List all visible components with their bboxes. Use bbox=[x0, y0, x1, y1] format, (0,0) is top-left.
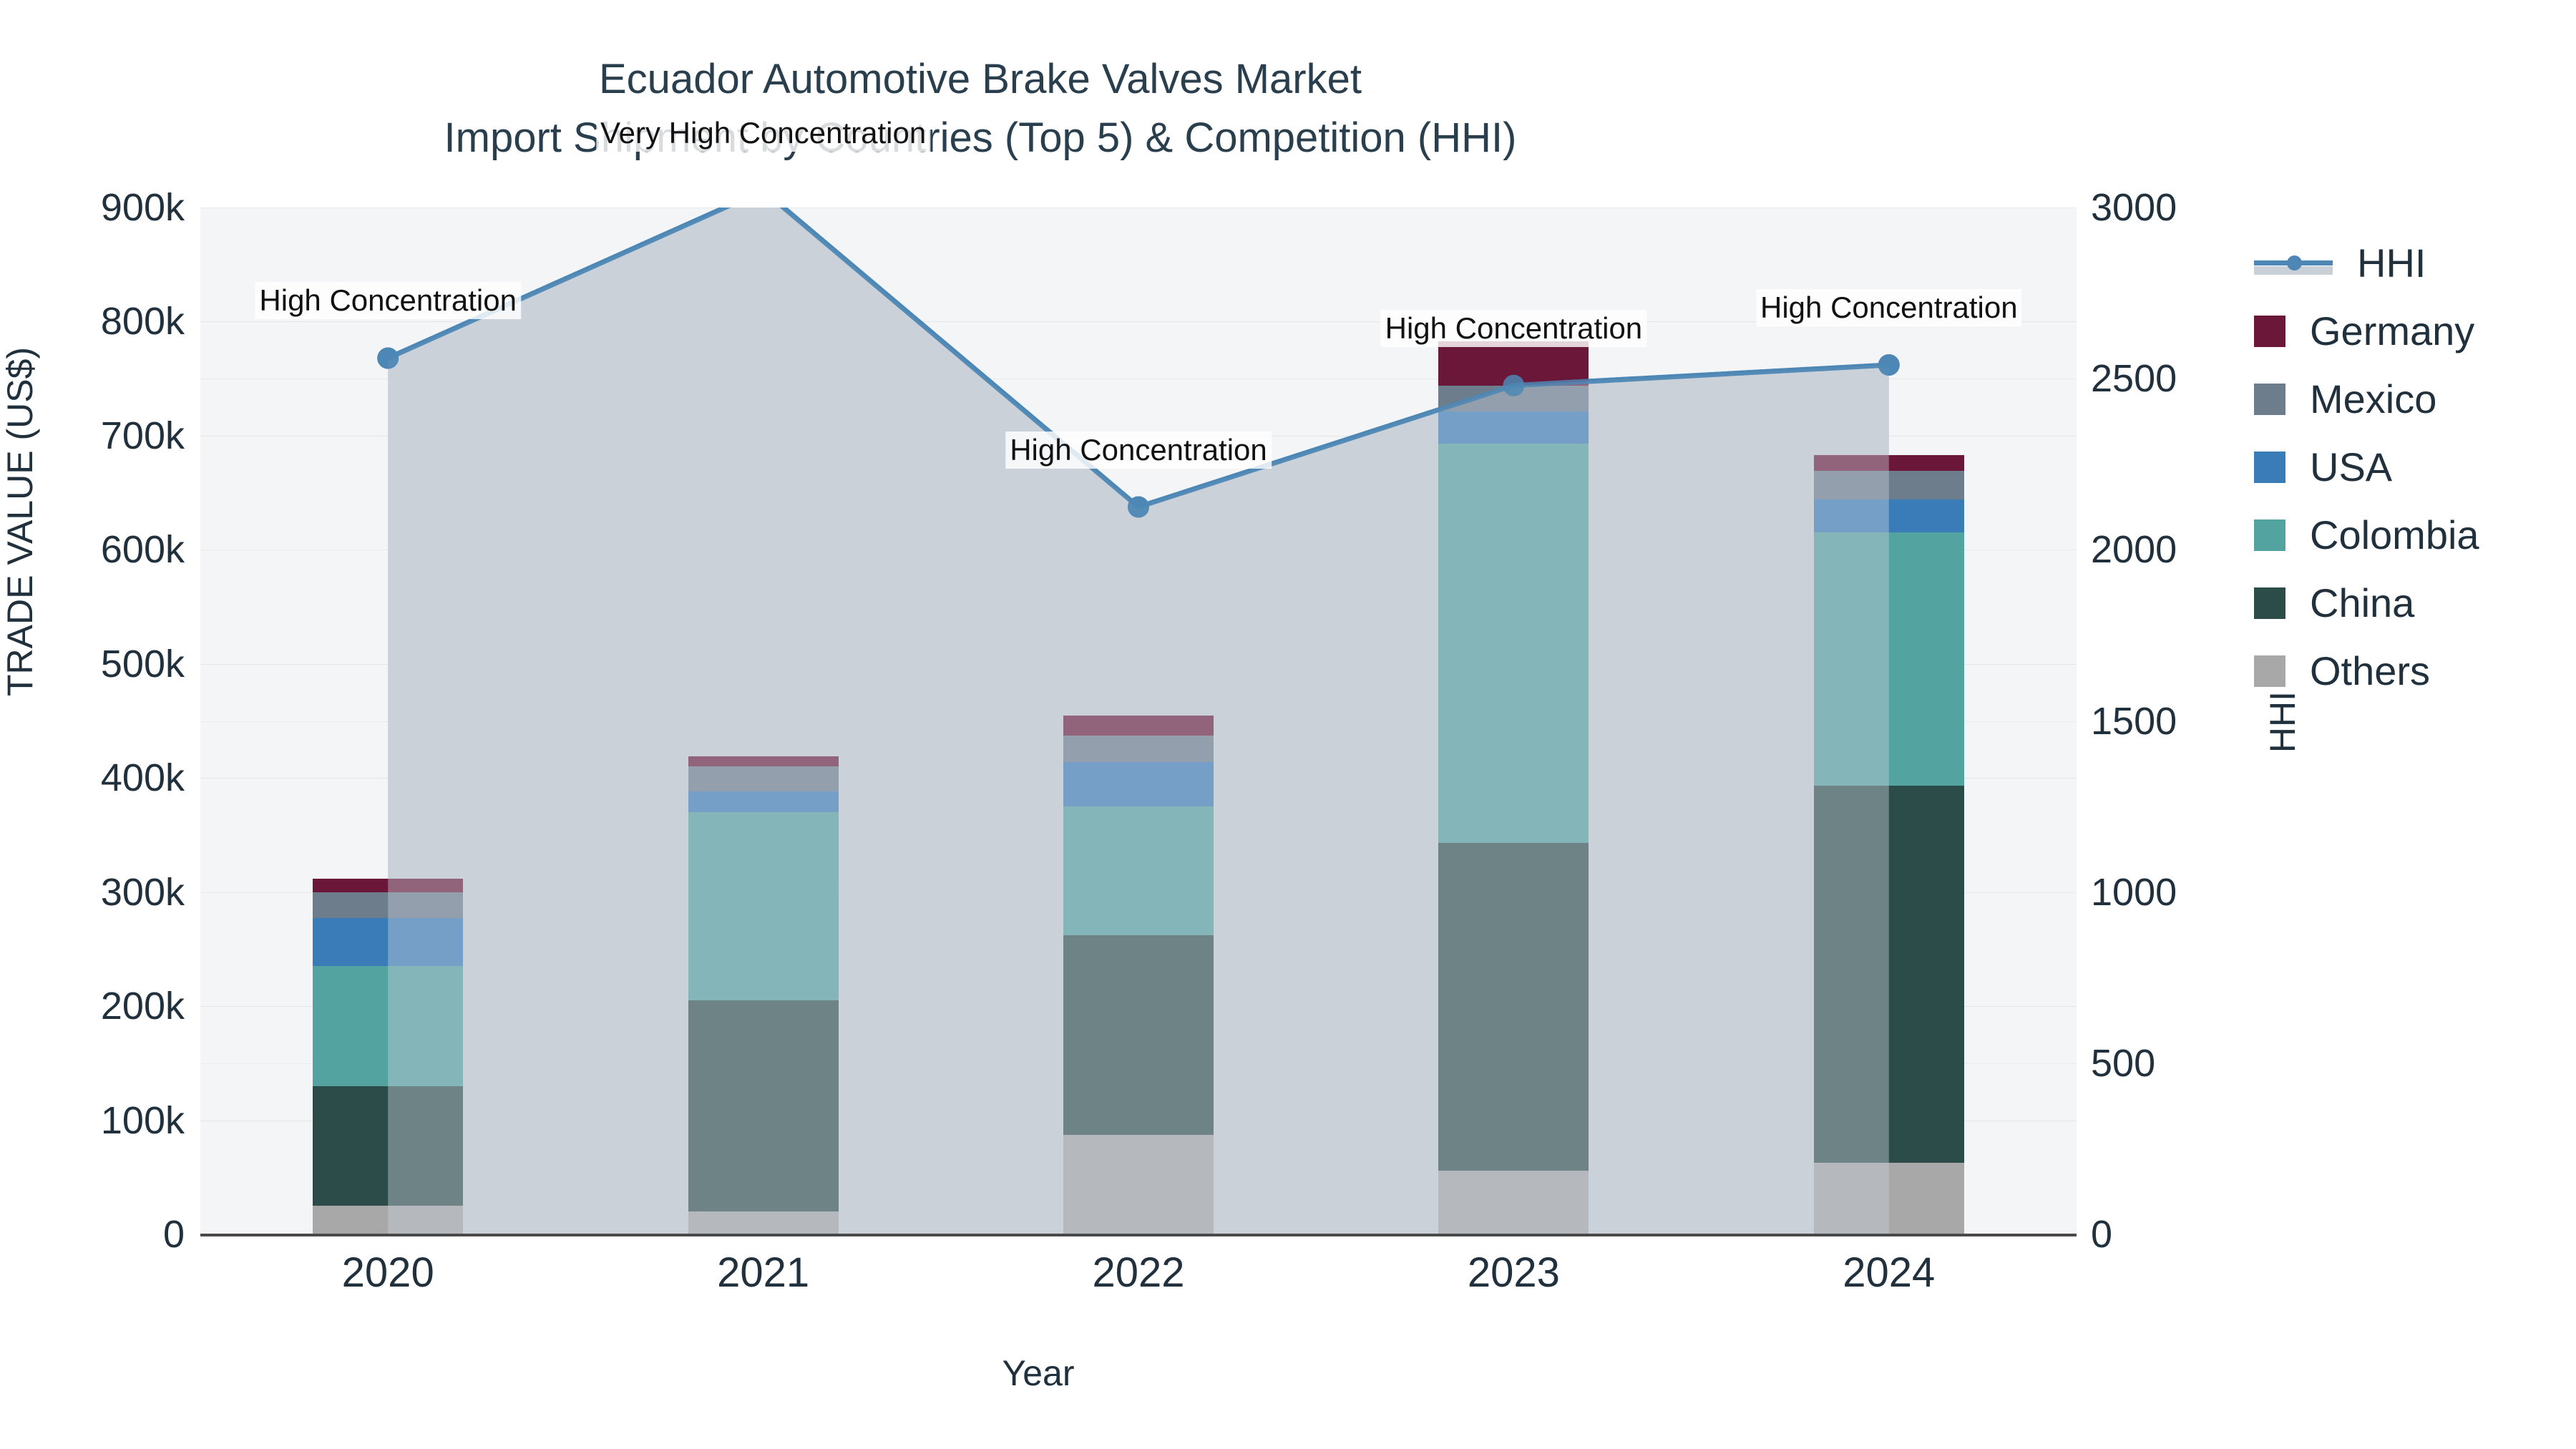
annotation-label: High Concentration bbox=[1381, 310, 1647, 347]
hhi-marker[interactable] bbox=[377, 347, 399, 369]
y-axis-left-tick: 800k bbox=[101, 299, 185, 343]
x-axis-tick-2024: 2024 bbox=[1843, 1249, 1935, 1297]
bar-segment-colombia[interactable] bbox=[1063, 806, 1214, 935]
y-axis-right-tick: 3000 bbox=[2091, 185, 2177, 230]
x-axis-tick-2020: 2020 bbox=[342, 1249, 434, 1297]
bar-segment-usa[interactable] bbox=[313, 918, 463, 966]
bar-segment-germany[interactable] bbox=[1438, 341, 1589, 386]
y-axis-left-tick: 100k bbox=[101, 1098, 185, 1143]
bar-segment-colombia[interactable] bbox=[688, 812, 839, 1000]
y-axis-right-tick: 1000 bbox=[2091, 870, 2177, 914]
y-axis-left-tick: 400k bbox=[101, 756, 185, 800]
legend-label: Others bbox=[2310, 648, 2430, 694]
hhi-marker[interactable] bbox=[1878, 354, 1900, 376]
x-axis-tick-2023: 2023 bbox=[1468, 1249, 1560, 1297]
legend-label: USA bbox=[2310, 444, 2392, 490]
bar-segment-mexico[interactable] bbox=[313, 892, 463, 919]
bar-stack[interactable] bbox=[688, 756, 839, 1234]
y-axis-left-tick: 600k bbox=[101, 527, 185, 572]
legend-item-usa[interactable]: USA bbox=[2254, 433, 2569, 501]
legend-line-marker bbox=[2254, 248, 2333, 279]
legend-label: HHI bbox=[2357, 240, 2426, 286]
legend-swatch bbox=[2254, 384, 2285, 415]
legend-swatch bbox=[2254, 452, 2285, 483]
bar-segment-colombia[interactable] bbox=[313, 966, 463, 1085]
legend-label: China bbox=[2310, 580, 2414, 626]
legend-label: Germany bbox=[2310, 308, 2474, 354]
bar-stack[interactable] bbox=[1063, 716, 1214, 1234]
bar-segment-colombia[interactable] bbox=[1438, 444, 1589, 843]
y-axis-left-tick: 300k bbox=[101, 870, 185, 914]
bar-segment-usa[interactable] bbox=[1438, 411, 1589, 444]
legend-item-others[interactable]: Others bbox=[2254, 637, 2569, 705]
y-axis-left-tick: 700k bbox=[101, 414, 185, 458]
legend-label: Mexico bbox=[2310, 376, 2436, 422]
hhi-marker[interactable] bbox=[1128, 497, 1149, 518]
plot-area bbox=[200, 208, 2077, 1234]
bar-segment-mexico[interactable] bbox=[1814, 471, 1964, 499]
bar-stack[interactable] bbox=[1814, 455, 1964, 1234]
legend-item-mexico[interactable]: Mexico bbox=[2254, 365, 2569, 433]
annotation-label: High Concentration bbox=[1005, 431, 1272, 469]
bar-stack[interactable] bbox=[313, 879, 463, 1234]
bar-segment-others[interactable] bbox=[1063, 1135, 1214, 1234]
y-axis-left-tick: 900k bbox=[101, 185, 185, 230]
legend-item-germany[interactable]: Germany bbox=[2254, 297, 2569, 365]
bar-segment-china[interactable] bbox=[313, 1086, 463, 1206]
y-axis-left-tick: 0 bbox=[163, 1212, 185, 1257]
bar-segment-germany[interactable] bbox=[313, 879, 463, 892]
annotation-label: High Concentration bbox=[1756, 289, 2022, 326]
legend-label: Colombia bbox=[2310, 512, 2479, 558]
y-axis-right-tick: 2000 bbox=[2091, 527, 2177, 572]
bar-segment-germany[interactable] bbox=[1814, 455, 1964, 471]
y-axis-right-tick: 0 bbox=[2091, 1212, 2112, 1257]
legend-item-china[interactable]: China bbox=[2254, 569, 2569, 637]
bar-segment-others[interactable] bbox=[313, 1206, 463, 1234]
bar-segment-china[interactable] bbox=[688, 1000, 839, 1211]
legend-swatch bbox=[2254, 655, 2285, 687]
y-axis-right-tick: 500 bbox=[2091, 1041, 2155, 1085]
annotation-label: Very High Concentration bbox=[596, 114, 930, 152]
bar-segment-usa[interactable] bbox=[1814, 499, 1964, 532]
bar-segment-germany[interactable] bbox=[688, 756, 839, 766]
chart-title-line2: Import Shipment by Countries (Top 5) & C… bbox=[0, 109, 1961, 167]
x-axis-tick-2022: 2022 bbox=[1092, 1249, 1184, 1297]
bar-segment-germany[interactable] bbox=[1063, 716, 1214, 736]
bar-segment-china[interactable] bbox=[1814, 786, 1964, 1162]
bar-segment-usa[interactable] bbox=[688, 791, 839, 812]
legend: HHIGermanyMexicoUSAColombiaChinaOthers bbox=[2254, 229, 2569, 705]
bar-segment-mexico[interactable] bbox=[1063, 736, 1214, 762]
y-axis-right-tick: 2500 bbox=[2091, 356, 2177, 401]
bar-segment-china[interactable] bbox=[1063, 935, 1214, 1135]
y-axis-right-tick: 1500 bbox=[2091, 699, 2177, 743]
chart-title: Ecuador Automotive Brake Valves Market I… bbox=[0, 50, 1961, 168]
bar-segment-others[interactable] bbox=[1438, 1171, 1589, 1234]
x-axis-title: Year bbox=[0, 1352, 2077, 1394]
y-axis-left-tick: 500k bbox=[101, 642, 185, 686]
bar-segment-others[interactable] bbox=[688, 1211, 839, 1234]
legend-item-colombia[interactable]: Colombia bbox=[2254, 501, 2569, 569]
legend-swatch bbox=[2254, 316, 2285, 347]
chart-title-line1: Ecuador Automotive Brake Valves Market bbox=[0, 50, 1961, 109]
bar-segment-china[interactable] bbox=[1438, 843, 1589, 1171]
bar-segment-mexico[interactable] bbox=[688, 766, 839, 791]
legend-swatch bbox=[2254, 587, 2285, 619]
annotation-label: High Concentration bbox=[255, 282, 521, 319]
chart-canvas: Ecuador Automotive Brake Valves Market I… bbox=[0, 0, 2576, 1449]
y-axis-left-title: TRADE VALUE (US$) bbox=[0, 271, 41, 772]
bar-stack[interactable] bbox=[1438, 341, 1589, 1234]
bar-segment-others[interactable] bbox=[1814, 1163, 1964, 1234]
bar-segment-colombia[interactable] bbox=[1814, 532, 1964, 786]
x-axis-tick-2021: 2021 bbox=[717, 1249, 809, 1297]
y-axis-left-tick: 200k bbox=[101, 984, 185, 1028]
legend-item-hhi[interactable]: HHI bbox=[2254, 229, 2569, 297]
x-axis-line bbox=[200, 1234, 2077, 1236]
bar-segment-usa[interactable] bbox=[1063, 762, 1214, 806]
bar-segment-mexico[interactable] bbox=[1438, 386, 1589, 412]
legend-swatch bbox=[2254, 519, 2285, 551]
